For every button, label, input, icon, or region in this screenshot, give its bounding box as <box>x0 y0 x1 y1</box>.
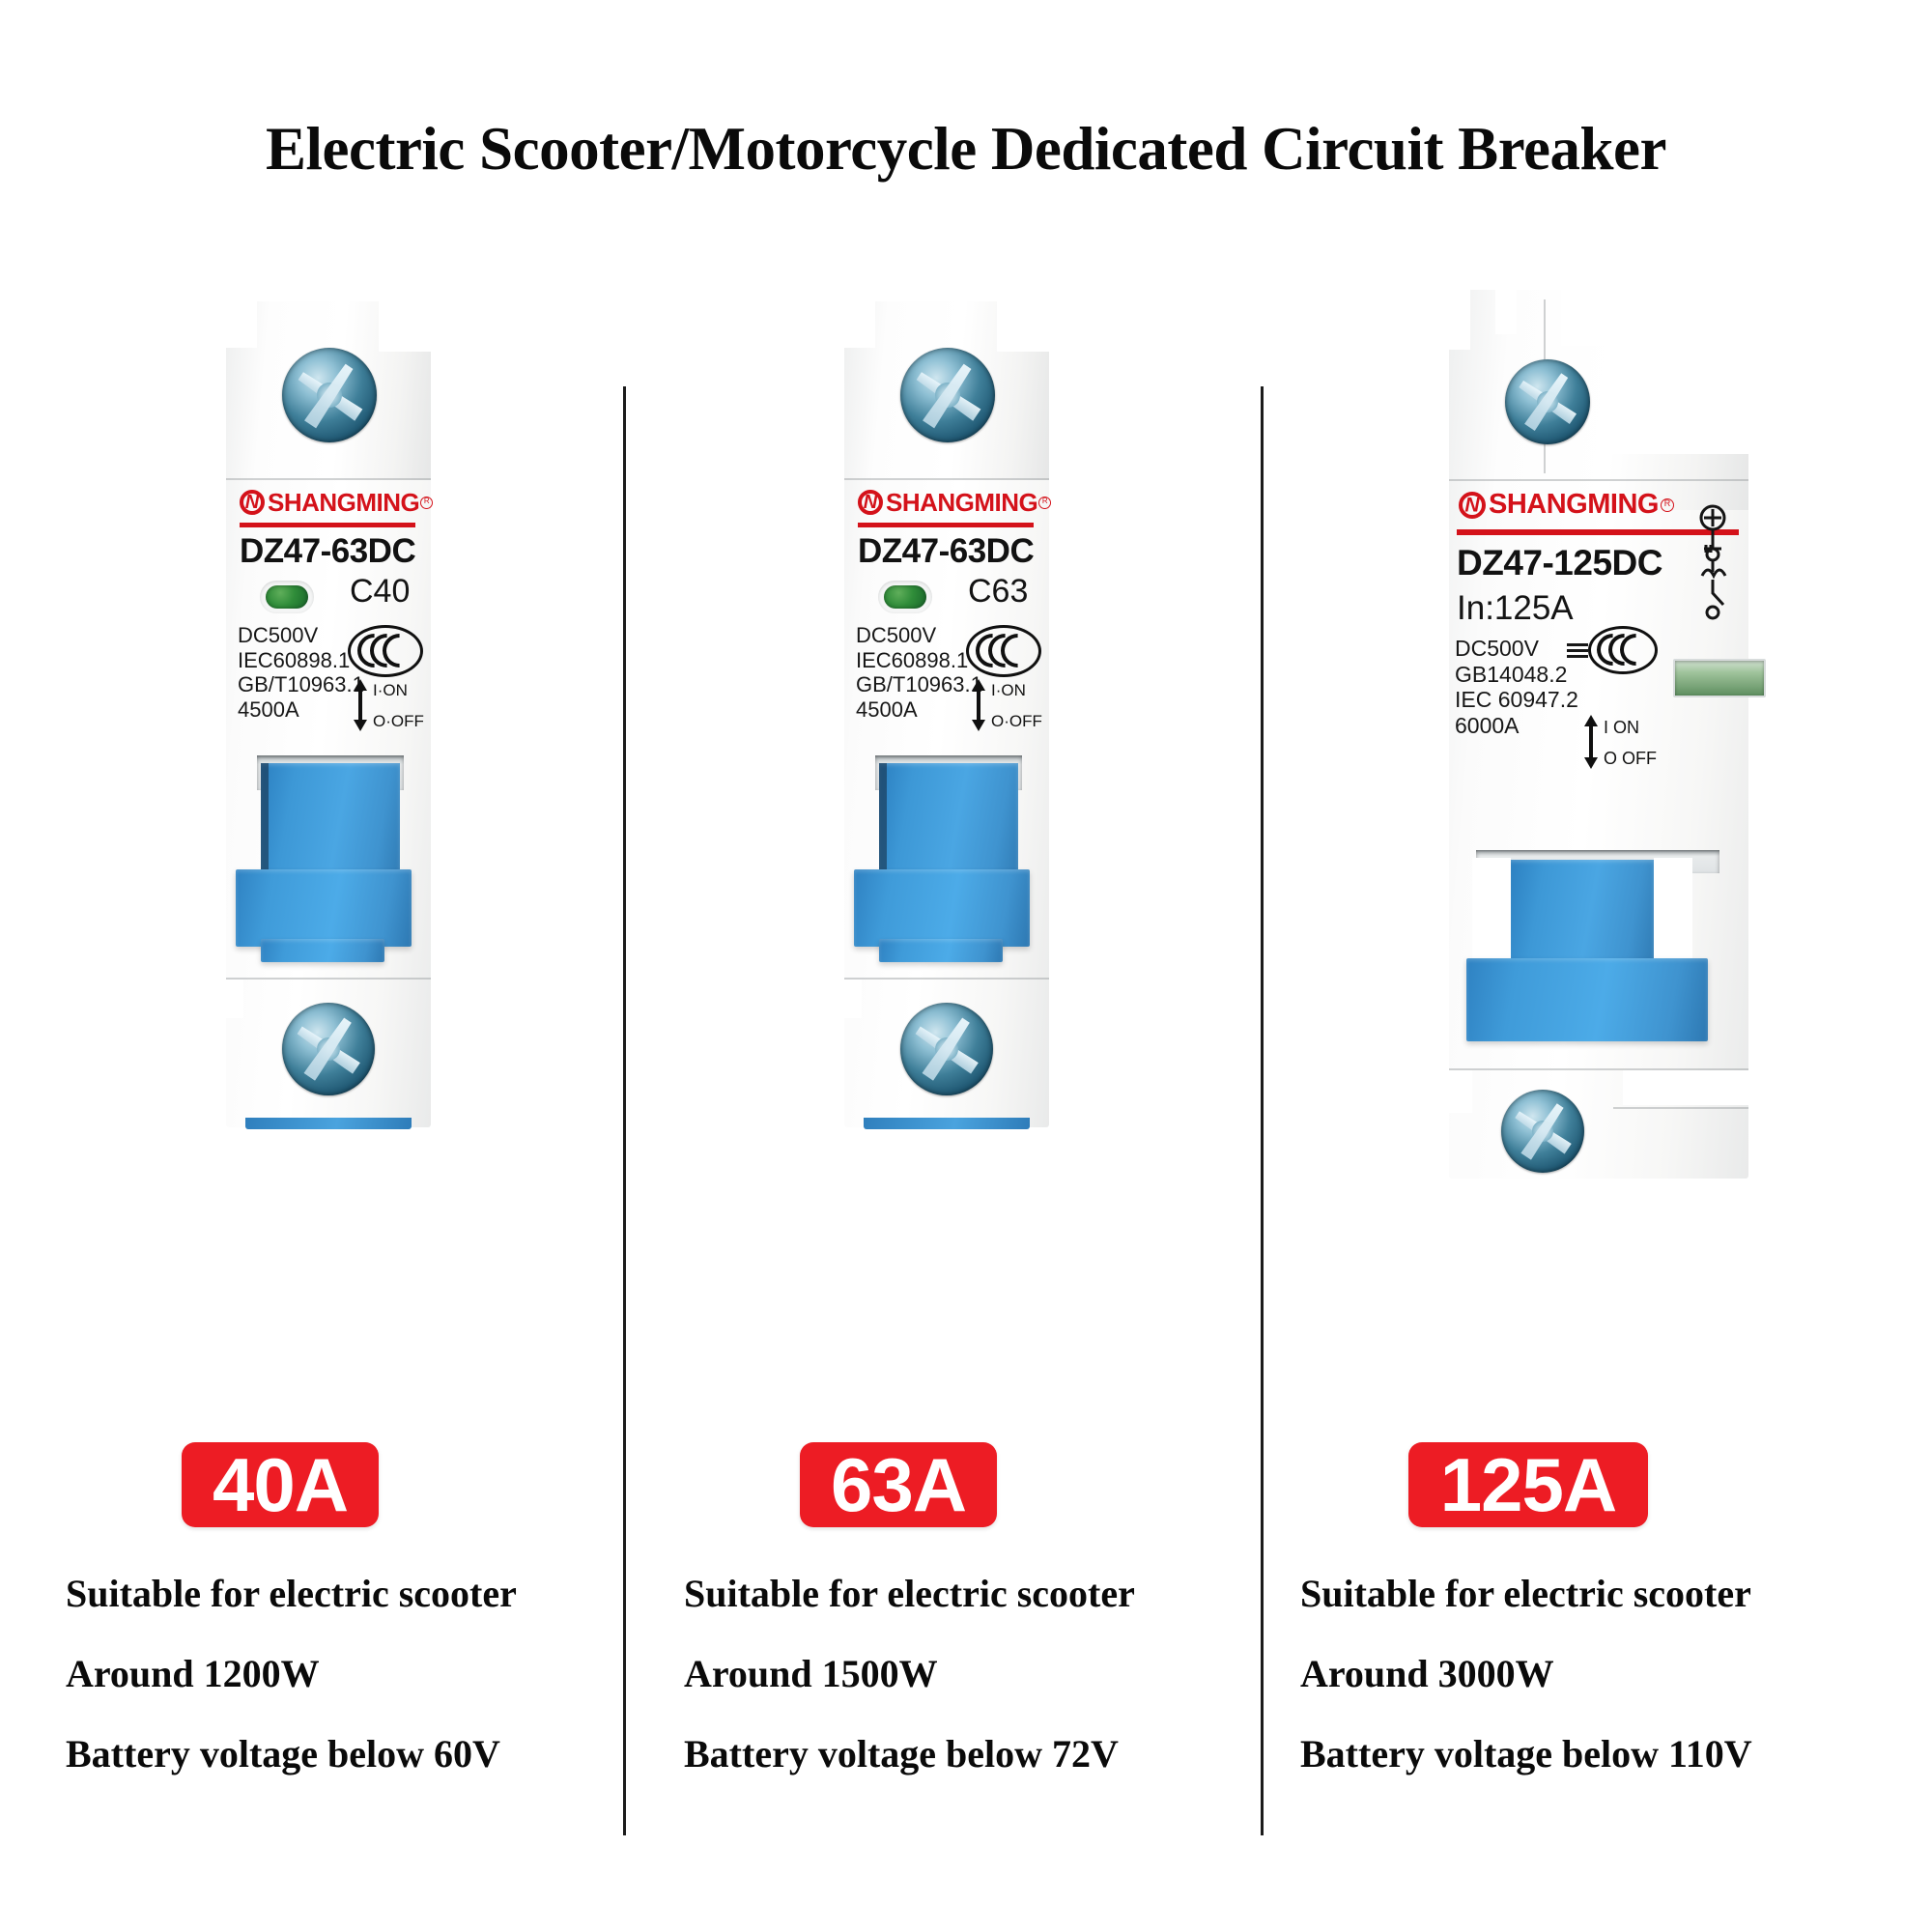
caption-line: Battery voltage below 110V <box>1300 1735 1880 1774</box>
model-number: DZ47-125DC <box>1457 543 1662 583</box>
spec-line: GB/T10963.1 <box>238 672 364 697</box>
terminal-screw-bottom <box>282 1003 375 1095</box>
caption-line: Suitable for electric scooter <box>66 1575 607 1613</box>
foot-seam <box>1613 1107 1748 1109</box>
foot-step-right <box>1623 1070 1748 1105</box>
current-rating-badge: 40A <box>182 1442 379 1527</box>
screw-cross-center <box>935 1037 959 1062</box>
brand-underline <box>240 523 415 527</box>
product-caption: Suitable for electric scooter Around 300… <box>1300 1575 1880 1774</box>
spec-line: GB14048.2 <box>1455 662 1578 688</box>
spec-line: IEC 60947.2 <box>1455 687 1578 713</box>
housing-seam-bottom <box>226 978 431 980</box>
brand-name: SHANGMING <box>1489 491 1659 519</box>
breaker-image-63a: N SHANGMING R DZ47-63DC C63 DC500V IEC60… <box>844 301 1049 1127</box>
caption-line: Battery voltage below 72V <box>684 1735 1225 1774</box>
din-rail-clip <box>864 1118 1030 1129</box>
terminal-screw-top <box>1505 359 1590 444</box>
breaker-label-face: N SHANGMING R DZ47-125DC In:125A DC500V … <box>1449 483 1748 831</box>
on-off-indicator: I·ON O·OFF <box>972 679 1049 731</box>
current-rating-badge: 125A <box>1408 1442 1648 1527</box>
curve-rating: C40 <box>350 573 410 611</box>
label-off: O·OFF <box>991 713 1042 729</box>
terminal-screw-top <box>900 348 995 442</box>
label-on: I·ON <box>991 682 1026 698</box>
terminal-screw-top <box>282 348 377 442</box>
arrow-stem <box>1589 724 1593 760</box>
spec-line: IEC60898.1 <box>856 648 982 673</box>
status-led-green <box>266 585 308 609</box>
current-rating-badge: 63A <box>800 1442 997 1527</box>
product-card-63a: N SHANGMING R DZ47-63DC C63 DC500V IEC60… <box>638 290 1256 1874</box>
head-notch-left <box>1449 290 1470 350</box>
label-off: O·OFF <box>373 713 424 729</box>
dc-symbol-icon <box>1567 643 1588 658</box>
brand-name: SHANGMING <box>886 490 1037 515</box>
curve-rating: C63 <box>968 573 1028 611</box>
ccc-certification-icon <box>348 625 417 671</box>
brand-trademark-icon: R <box>1661 498 1674 512</box>
brand-trademark-icon: R <box>1038 497 1051 509</box>
toggle-lever-grip[interactable] <box>236 869 412 947</box>
ccc-certification-icon <box>1588 626 1652 668</box>
caption-line: Battery voltage below 60V <box>66 1735 607 1774</box>
lever-side-gap-left <box>1472 858 1511 974</box>
spec-list: DC500V IEC60898.1 GB/T10963.1 4500A <box>238 623 364 722</box>
foot-notch-left <box>226 980 243 1018</box>
head-step-right <box>1604 346 1748 454</box>
caption-line: Suitable for electric scooter <box>1300 1575 1880 1613</box>
toggle-lever-lip[interactable] <box>261 939 384 962</box>
brand-trademark-icon: R <box>420 497 433 509</box>
ccc-certification-icon <box>966 625 1036 671</box>
brand-underline <box>858 523 1034 527</box>
screw-cross-center <box>935 383 959 407</box>
toggle-lever-lip[interactable] <box>879 939 1003 962</box>
rated-current: In:125A <box>1457 589 1574 628</box>
product-caption: Suitable for electric scooter Around 150… <box>684 1575 1225 1774</box>
arrow-down-icon <box>1584 757 1598 769</box>
foot-notch-left <box>844 980 862 1018</box>
brand-name: SHANGMING <box>268 490 419 515</box>
arrow-stem <box>977 688 980 723</box>
screw-cross-center <box>317 383 341 407</box>
updown-arrow-icon <box>972 679 985 731</box>
head-notch-right <box>379 301 431 352</box>
product-caption: Suitable for electric scooter Around 120… <box>66 1575 607 1774</box>
spec-list: DC500V GB14048.2 IEC 60947.2 6000A <box>1455 636 1578 739</box>
toggle-lever-grip[interactable] <box>1466 958 1708 1041</box>
spec-line: DC500V <box>1455 636 1578 662</box>
breaker-image-40a: N SHANGMING R DZ47-63DC C40 DC500V IEC60… <box>226 301 431 1127</box>
label-on: I·ON <box>373 682 408 698</box>
brand-emblem-glyph: N <box>245 493 259 512</box>
caption-line: Around 1500W <box>684 1655 1225 1693</box>
on-off-indicator: I·ON O·OFF <box>354 679 431 731</box>
screw-cross-center <box>1532 1121 1553 1142</box>
spec-line: IEC60898.1 <box>238 648 364 673</box>
label-off: O OFF <box>1604 750 1657 767</box>
brand-emblem-icon: N <box>240 490 265 515</box>
caption-line: Around 3000W <box>1300 1655 1880 1693</box>
housing-seam-top <box>1449 479 1748 481</box>
updown-arrow-icon <box>354 679 367 731</box>
terminal-screw-bottom <box>1501 1090 1584 1173</box>
brand-logo: N SHANGMING R <box>240 490 433 515</box>
spec-line: 6000A <box>1455 713 1578 739</box>
arrow-stem <box>358 688 362 723</box>
side-status-window <box>1673 659 1766 697</box>
spec-line: DC500V <box>856 623 982 648</box>
head-notch-mid <box>1495 290 1517 334</box>
brand-emblem-glyph: N <box>1464 495 1479 515</box>
lever-side-gap-right <box>1654 858 1692 974</box>
head-notch-right <box>997 301 1049 352</box>
product-columns: N SHANGMING R DZ47-63DC C40 DC500V IEC60… <box>0 0 1932 1932</box>
toggle-lever-grip[interactable] <box>854 869 1030 947</box>
breaker-label-face: N SHANGMING R DZ47-63DC C40 DC500V IEC60… <box>226 480 431 770</box>
status-led-green <box>884 585 926 609</box>
caption-line: Around 1200W <box>66 1655 607 1693</box>
brand-logo: N SHANGMING R <box>858 490 1051 515</box>
model-number: DZ47-63DC <box>858 532 1034 571</box>
arrow-down-icon <box>354 720 367 731</box>
spec-line: 4500A <box>856 697 982 723</box>
spec-list: DC500V IEC60898.1 GB/T10963.1 4500A <box>856 623 982 722</box>
screw-cross-center <box>1537 391 1559 413</box>
toggle-lever-upper[interactable] <box>1509 860 1654 974</box>
on-off-indicator: I ON O OFF <box>1584 715 1690 769</box>
foot-notch-left <box>1449 1070 1472 1113</box>
brand-emblem-glyph: N <box>864 493 877 512</box>
model-number: DZ47-63DC <box>240 532 415 571</box>
screw-cross-center <box>317 1037 341 1062</box>
breaker-image-125a: N SHANGMING R DZ47-125DC In:125A DC500V … <box>1449 290 1748 1179</box>
breaker-label-face: N SHANGMING R DZ47-63DC C63 DC500V IEC60… <box>844 480 1049 770</box>
arrow-down-icon <box>972 720 985 731</box>
terminal-screw-bottom <box>900 1003 993 1095</box>
updown-arrow-icon <box>1584 715 1598 769</box>
caption-line: Suitable for electric scooter <box>684 1575 1225 1613</box>
brand-emblem-icon: N <box>1459 492 1486 519</box>
product-card-40a: N SHANGMING R DZ47-63DC C40 DC500V IEC60… <box>19 290 638 1874</box>
housing-seam-bottom <box>844 978 1049 980</box>
spec-line: 4500A <box>238 697 364 723</box>
circuit-schematic-icon <box>1690 504 1735 639</box>
brand-logo: N SHANGMING R <box>1459 491 1674 519</box>
spec-line: DC500V <box>238 623 364 648</box>
head-notch-left <box>226 301 257 348</box>
head-notch-right <box>1561 290 1748 346</box>
head-notch-left <box>844 301 875 348</box>
product-infographic: Electric Scooter/Motorcycle Dedicated Ci… <box>0 0 1932 1932</box>
schematic-svg <box>1690 504 1735 639</box>
spec-line: GB/T10963.1 <box>856 672 982 697</box>
product-card-125a: N SHANGMING R DZ47-125DC In:125A DC500V … <box>1275 290 1893 1874</box>
label-on: I ON <box>1604 719 1639 736</box>
brand-emblem-icon: N <box>858 490 883 515</box>
din-rail-clip <box>245 1118 412 1129</box>
